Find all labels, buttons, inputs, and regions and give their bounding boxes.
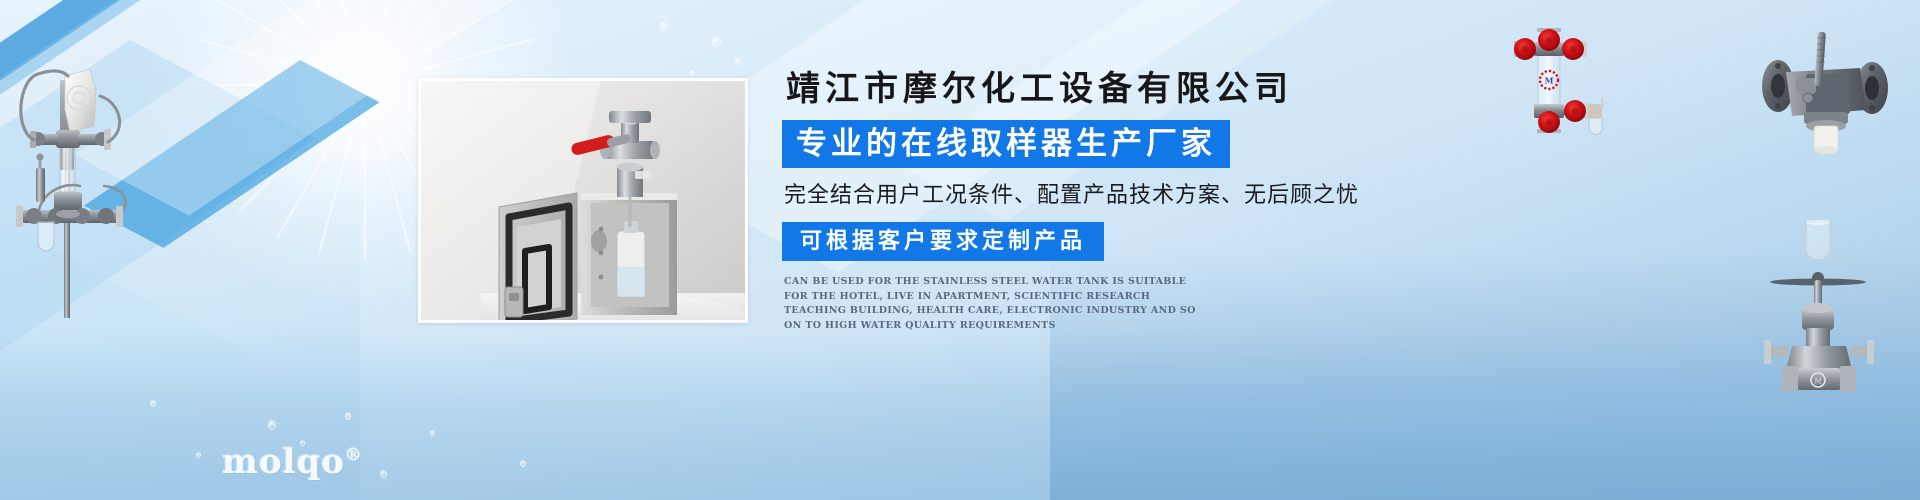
water-droplet [196,452,201,458]
watermark-text: molqo [222,442,345,482]
company-name: 靖江市摩尔化工设备有限公司 [786,72,1422,106]
right-cross-valve-illustration: M [1512,28,1664,138]
water-droplet [380,470,387,478]
bottom-right-valve-illustration: M [1754,220,1904,400]
water-droplet [150,400,156,407]
promo-banner: 靖江市摩尔化工设备有限公司 专业的在线取样器生产厂家 完全结合用户工况条件、配置… [0,0,1920,500]
water-droplet [712,36,721,47]
product-photo [418,78,748,323]
headline-banner: 专业的在线取样器生产厂家 [782,120,1230,168]
water-droplet [345,412,351,420]
water-droplet [430,430,435,436]
svg-text:M: M [1545,75,1554,85]
water-droplet [268,420,276,430]
svg-text:M: M [1814,378,1821,386]
english-description: CAN BE USED FOR THE STAINLESS STEEL WATE… [784,275,1204,334]
sub-headline: 完全结合用户工况条件、配置产品技术方案、无后顾之忧 [784,182,1422,207]
water-droplet [660,22,667,31]
water-droplet [520,460,526,467]
right-lever-valve-illustration [1752,26,1902,166]
left-equipment-illustration [8,18,168,318]
watermark-logo: molqo® [222,442,363,482]
water-droplet [735,58,741,65]
banner-text-block: 靖江市摩尔化工设备有限公司 专业的在线取样器生产厂家 完全结合用户工况条件、配置… [782,72,1422,334]
registered-mark-icon: ® [345,446,363,466]
water-droplet [690,70,695,76]
tagline-banner: 可根据客户要求定制产品 [782,222,1104,261]
product-photo-illustration [421,81,748,323]
